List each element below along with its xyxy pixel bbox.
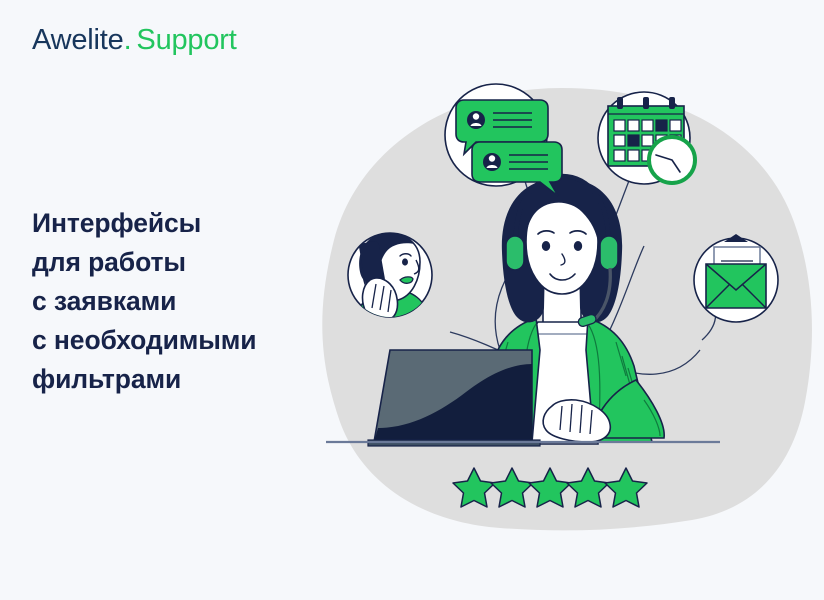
- headline: Интерфейсы для работы с заявками с необх…: [32, 204, 257, 399]
- agent-eye-right: [574, 241, 582, 251]
- laptop: [368, 350, 540, 446]
- page-root: Awelite.Support Интерфейсы для работы с …: [0, 0, 824, 600]
- headline-line-1: Интерфейсы: [32, 204, 257, 243]
- headline-line-3: с заявками: [32, 282, 257, 321]
- logo-suffix: Support: [136, 24, 236, 56]
- headset-cup-right: [600, 236, 618, 270]
- headset-cup-left: [506, 236, 524, 270]
- headline-line-5: фильтрами: [32, 360, 257, 399]
- headline-line-4: с необходимыми: [32, 321, 257, 360]
- logo[interactable]: Awelite.Support: [32, 26, 237, 55]
- agent-eye-left: [542, 241, 550, 251]
- support-agent-illustration: [300, 50, 824, 550]
- logo-brand: Awelite: [32, 24, 124, 56]
- headline-line-2: для работы: [32, 243, 257, 282]
- calendar-clock-icon[interactable]: [598, 92, 695, 184]
- logo-dot: .: [124, 24, 132, 56]
